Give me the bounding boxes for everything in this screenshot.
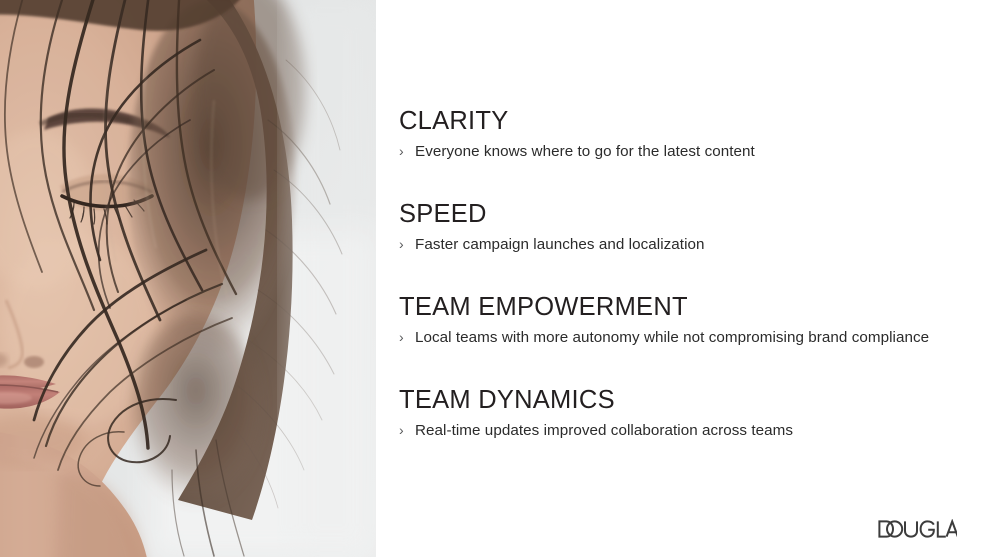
bullet-team-dynamics: › Real-time updates improved collaborati…: [399, 422, 793, 440]
beauty-portrait-photo: [0, 0, 376, 557]
slide-content: CLARITY › Everyone knows where to go for…: [376, 0, 991, 557]
chevron-right-icon: ›: [399, 144, 415, 158]
content-block-speed: SPEED › Faster campaign launches and loc…: [399, 201, 705, 254]
bullet-text-team-dynamics: Real-time updates improved collaboration…: [415, 422, 793, 440]
heading-team-empowerment: TEAM EMPOWERMENT: [399, 294, 929, 321]
chevron-right-icon: ›: [399, 330, 415, 344]
content-block-team-dynamics: TEAM DYNAMICS › Real-time updates improv…: [399, 387, 793, 440]
heading-team-dynamics: TEAM DYNAMICS: [399, 387, 793, 414]
bullet-text-team-empowerment: Local teams with more autonomy while not…: [415, 329, 929, 347]
douglas-logo: DOUGLAS: [877, 519, 957, 539]
portrait-illustration: [0, 0, 376, 557]
chevron-right-icon: ›: [399, 237, 415, 251]
bullet-text-clarity: Everyone knows where to go for the lates…: [415, 143, 755, 161]
presentation-slide: CLARITY › Everyone knows where to go for…: [0, 0, 991, 557]
bullet-clarity: › Everyone knows where to go for the lat…: [399, 143, 755, 161]
content-block-clarity: CLARITY › Everyone knows where to go for…: [399, 108, 755, 161]
heading-clarity: CLARITY: [399, 108, 755, 135]
bullet-team-empowerment: › Local teams with more autonomy while n…: [399, 329, 929, 347]
chevron-right-icon: ›: [399, 423, 415, 437]
bullet-speed: › Faster campaign launches and localizat…: [399, 236, 705, 254]
heading-speed: SPEED: [399, 201, 705, 228]
bullet-text-speed: Faster campaign launches and localizatio…: [415, 236, 705, 254]
douglas-wordmark-icon: [877, 519, 957, 539]
content-block-team-empowerment: TEAM EMPOWERMENT › Local teams with more…: [399, 294, 929, 347]
